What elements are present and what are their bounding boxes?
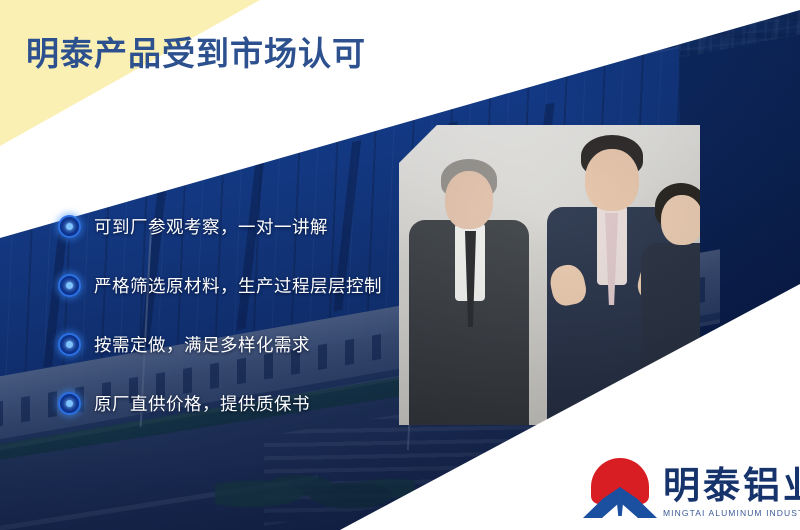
list-item: 严格筛选原材料，生产过程层层控制 — [58, 271, 418, 299]
mingtai-sun-mountain-icon — [583, 458, 657, 518]
target-circle-icon — [58, 274, 81, 297]
target-circle-icon — [58, 392, 81, 415]
company-logo: 明泰铝业 MINGTAI ALUMINUM INDUSTRY CO., LTD — [583, 458, 800, 518]
bullet-label: 原厂直供价格，提供质保书 — [94, 391, 310, 416]
bullet-label: 按需定做，满足多样化需求 — [94, 332, 310, 357]
list-item: 按需定做，满足多样化需求 — [58, 330, 418, 358]
marketing-banner: 明泰产品受到市场认可 可到厂参观 — [0, 0, 800, 530]
feature-bullet-list: 可到厂参观考察，一对一讲解 严格筛选原材料，生产过程层层控制 按需定做，满足多样… — [58, 212, 418, 417]
list-item: 可到厂参观考察，一对一讲解 — [58, 212, 418, 240]
page-title: 明泰产品受到市场认可 — [26, 27, 366, 75]
logo-text-block: 明泰铝业 MINGTAI ALUMINUM INDUSTRY CO., LTD — [663, 467, 800, 518]
bullet-label: 严格筛选原材料，生产过程层层控制 — [94, 273, 382, 298]
list-item: 原厂直供价格，提供质保书 — [58, 389, 418, 417]
logo-chinese-name: 明泰铝业 — [663, 467, 800, 504]
logo-english-name: MINGTAI ALUMINUM INDUSTRY CO., LTD — [663, 508, 800, 518]
target-circle-icon — [58, 333, 81, 356]
bullet-label: 可到厂参观考察，一对一讲解 — [94, 214, 328, 239]
target-circle-icon — [58, 215, 81, 238]
